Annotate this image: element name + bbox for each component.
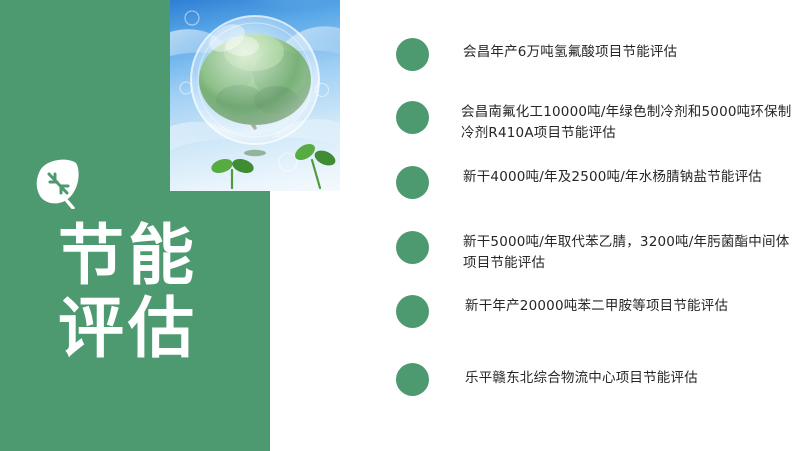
list-item[interactable]: 新干年产20000吨苯二甲胺等项目节能评估 — [396, 295, 800, 328]
bullet-dot-icon — [396, 38, 429, 71]
list-item[interactable]: 会昌南氟化工10000吨/年绿色制冷剂和5000吨环保制冷剂R410A项目节能评… — [396, 101, 800, 144]
tree-in-bubble-photo — [170, 0, 340, 191]
list-item-label: 乐平赣东北综合物流中心项目节能评估 — [465, 368, 800, 389]
list-item-label: 新干5000吨/年取代苯乙腈，3200吨/年肟菌酯中间体项目节能评估 — [463, 232, 800, 274]
bullet-dot-icon — [396, 231, 429, 264]
list-item[interactable]: 乐平赣东北综合物流中心项目节能评估 — [396, 363, 800, 396]
bullet-dot-icon — [396, 101, 429, 134]
list-item-label: 会昌年产6万吨氢氟酸项目节能评估 — [463, 42, 800, 63]
slide: 节能 评估 — [0, 0, 800, 451]
leaf-icon — [34, 157, 82, 209]
bullet-dot-icon — [396, 363, 429, 396]
list-item-label: 新干年产20000吨苯二甲胺等项目节能评估 — [465, 296, 800, 317]
list-item[interactable]: 会昌年产6万吨氢氟酸项目节能评估 — [396, 38, 800, 71]
bullet-dot-icon — [396, 295, 429, 328]
title-line-2: 评估 — [58, 295, 268, 362]
title-line-1: 节能 — [58, 222, 268, 289]
page-title: 节能 评估 — [58, 222, 268, 363]
list-item[interactable]: 新干5000吨/年取代苯乙腈，3200吨/年肟菌酯中间体项目节能评估 — [396, 231, 800, 274]
list-item-label: 会昌南氟化工10000吨/年绿色制冷剂和5000吨环保制冷剂R410A项目节能评… — [461, 102, 800, 144]
project-list: 会昌年产6万吨氢氟酸项目节能评估 会昌南氟化工10000吨/年绿色制冷剂和500… — [396, 0, 800, 451]
list-item[interactable]: 新干4000吨/年及2500吨/年水杨腈钠盐节能评估 — [396, 166, 800, 199]
bullet-dot-icon — [396, 166, 429, 199]
list-item-label: 新干4000吨/年及2500吨/年水杨腈钠盐节能评估 — [463, 167, 800, 188]
